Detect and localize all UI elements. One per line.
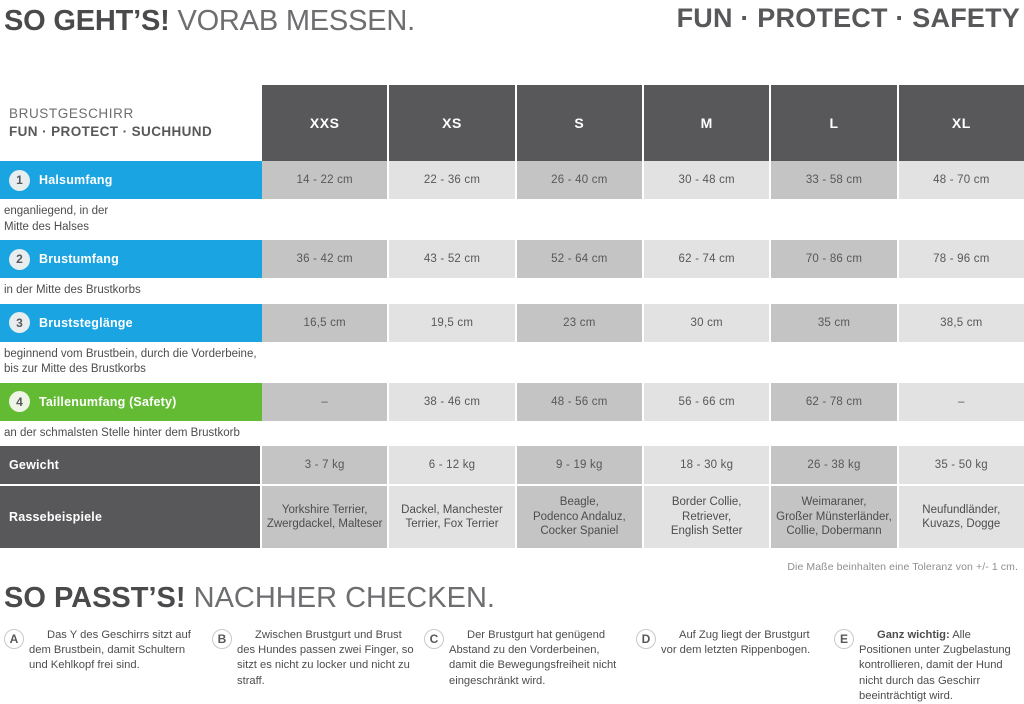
- step-number-badge: 3: [9, 312, 30, 333]
- table-cell: 38 - 46 cm: [389, 383, 516, 421]
- tip-badge-icon: B: [212, 629, 232, 649]
- size-table: BRUSTGESCHIRRFUN · PROTECT · SUCHHUNDXXS…: [0, 85, 1024, 548]
- table-cell: 35 - 50 kg: [899, 446, 1024, 484]
- table-cell: 38,5 cm: [899, 304, 1024, 342]
- table-cell: 56 - 66 cm: [644, 383, 771, 421]
- table-cell: Border Collie, Retriever,English Setter: [644, 486, 771, 548]
- table-cell: 70 - 86 cm: [771, 240, 898, 278]
- table-cell: 43 - 52 cm: [389, 240, 516, 278]
- page-title-light: VORAB MESSEN.: [177, 5, 415, 37]
- table-cell: Weimaraner,Großer Münsterländer,Collie, …: [771, 486, 898, 548]
- note-spacer: [262, 199, 1024, 240]
- table-cell: Dackel, ManchesterTerrier, Fox Terrier: [389, 486, 516, 548]
- tip-text: Das Y des Geschirrs sitzt auf dem Brustb…: [29, 628, 204, 674]
- table-cell: Yorkshire Terrier,Zwergdackel, Malteser: [262, 486, 389, 548]
- tip-text: Auf Zug liegt der Brustgurt vor dem letz…: [661, 628, 826, 658]
- table-cell: 33 - 58 cm: [771, 161, 898, 199]
- footer-title-light: NACHHER CHECKEN.: [194, 582, 495, 614]
- table-row: 2Brustumfang36 - 42 cm43 - 52 cm52 - 64 …: [0, 240, 1024, 278]
- table-cell: 35 cm: [771, 304, 898, 342]
- size-header-xxs: XXS: [262, 85, 389, 161]
- tip-badge-icon: A: [4, 629, 24, 649]
- size-header-xl: XL: [899, 85, 1024, 161]
- table-cell: 9 - 19 kg: [517, 446, 644, 484]
- table-cell: 62 - 78 cm: [771, 383, 898, 421]
- table-cell: 30 - 48 cm: [644, 161, 771, 199]
- corner-line-2: FUN · PROTECT · SUCHHUND: [9, 123, 212, 141]
- table-cell: 30 cm: [644, 304, 771, 342]
- table-cell: 48 - 56 cm: [517, 383, 644, 421]
- tip-badge-icon: E: [834, 629, 854, 649]
- measure-label-3: 3Bruststeglänge: [0, 304, 262, 342]
- table-cell: 6 - 12 kg: [389, 446, 516, 484]
- measure-label-text: Taillenumfang (Safety): [39, 395, 177, 409]
- weight-row: Gewicht3 - 7 kg6 - 12 kg9 - 19 kg18 - 30…: [0, 446, 1024, 484]
- tip-b: BZwischen Brustgurt und Brust des Hundes…: [212, 628, 424, 689]
- measure-note-row: enganliegend, in derMitte des Halses: [0, 199, 1024, 240]
- size-header-s: S: [517, 85, 644, 161]
- breed-row: RassebeispieleYorkshire Terrier,Zwergdac…: [0, 486, 1024, 548]
- weight-label: Gewicht: [0, 446, 262, 484]
- tolerance-note: Die Maße beinhalten eine Toleranz von +/…: [787, 561, 1018, 573]
- table-corner-label: BRUSTGESCHIRRFUN · PROTECT · SUCHHUND: [0, 85, 262, 161]
- table-cell: 3 - 7 kg: [262, 446, 389, 484]
- table-cell: 19,5 cm: [389, 304, 516, 342]
- measure-note: enganliegend, in derMitte des Halses: [0, 199, 262, 240]
- step-number-badge: 2: [9, 249, 30, 270]
- table-cell: 48 - 70 cm: [899, 161, 1024, 199]
- page-header: SO GEHT’S! VORAB MESSEN. FUN · PROTECT ·…: [0, 0, 1024, 58]
- measure-note: in der Mitte des Brustkorbs: [0, 278, 262, 304]
- footer-title-bold: SO PASST’S!: [4, 582, 186, 614]
- note-spacer: [262, 342, 1024, 383]
- measure-label-1: 1Halsumfang: [0, 161, 262, 199]
- measure-note-row: an der schmalsten Stelle hinter dem Brus…: [0, 421, 1024, 447]
- table-cell: 16,5 cm: [262, 304, 389, 342]
- table-cell: –: [899, 383, 1024, 421]
- note-spacer: [262, 278, 1024, 304]
- breed-label: Rassebeispiele: [0, 486, 262, 548]
- tip-badge-icon: C: [424, 629, 444, 649]
- size-header-xs: XS: [389, 85, 516, 161]
- table-cell: 23 cm: [517, 304, 644, 342]
- table-cell: 14 - 22 cm: [262, 161, 389, 199]
- brand-claim: FUN · PROTECT · SAFETY: [677, 0, 1024, 34]
- step-number-badge: 1: [9, 170, 30, 191]
- measure-note-row: beginnend vom Brustbein, durch die Vorde…: [0, 342, 1024, 383]
- tip-d: DAuf Zug liegt der Brustgurt vor dem let…: [636, 628, 834, 658]
- measure-note: beginnend vom Brustbein, durch die Vorde…: [0, 342, 262, 383]
- measure-label-text: Halsumfang: [39, 173, 113, 187]
- table-row: 3Bruststeglänge16,5 cm19,5 cm23 cm30 cm3…: [0, 304, 1024, 342]
- table-cell: 36 - 42 cm: [262, 240, 389, 278]
- size-header-l: L: [771, 85, 898, 161]
- measure-label-text: Bruststeglänge: [39, 316, 133, 330]
- table-cell: 26 - 38 kg: [771, 446, 898, 484]
- measure-label-4: 4Taillenumfang (Safety): [0, 383, 262, 421]
- tip-text: Zwischen Brustgurt und Brust des Hundes …: [237, 628, 416, 689]
- tip-badge-icon: D: [636, 629, 656, 649]
- table-cell: Beagle,Podenco Andaluz,Cocker Spaniel: [517, 486, 644, 548]
- table-cell: 18 - 30 kg: [644, 446, 771, 484]
- page-title: SO GEHT’S! VORAB MESSEN.: [0, 0, 415, 40]
- table-cell: Neufundländer,Kuvazs, Dogge: [899, 486, 1024, 548]
- table-cell: 62 - 74 cm: [644, 240, 771, 278]
- table-cell: –: [262, 383, 389, 421]
- table-cell: 78 - 96 cm: [899, 240, 1024, 278]
- note-spacer: [262, 421, 1024, 447]
- measure-label-2: 2Brustumfang: [0, 240, 262, 278]
- measure-label-text: Brustumfang: [39, 252, 119, 266]
- table-cell: 52 - 64 cm: [517, 240, 644, 278]
- tip-a: ADas Y des Geschirrs sitzt auf dem Brust…: [4, 628, 212, 674]
- measure-note-row: in der Mitte des Brustkorbs: [0, 278, 1024, 304]
- page-title-bold: SO GEHT’S!: [4, 5, 170, 37]
- measure-note: an der schmalsten Stelle hinter dem Brus…: [0, 421, 262, 447]
- corner-line-1: BRUSTGESCHIRR: [9, 105, 134, 123]
- tip-c: CDer Brustgurt hat genügend Abstand zu d…: [424, 628, 636, 689]
- table-header-row: BRUSTGESCHIRRFUN · PROTECT · SUCHHUNDXXS…: [0, 85, 1024, 161]
- table-row: 1Halsumfang14 - 22 cm22 - 36 cm26 - 40 c…: [0, 161, 1024, 199]
- step-number-badge: 4: [9, 391, 30, 412]
- table-cell: 26 - 40 cm: [517, 161, 644, 199]
- footer-title: SO PASST’S! NACHHER CHECKEN.: [4, 579, 495, 617]
- table-cell: 22 - 36 cm: [389, 161, 516, 199]
- table-row: 4Taillenumfang (Safety)–38 - 46 cm48 - 5…: [0, 383, 1024, 421]
- tip-text: Der Brustgurt hat genügend Abstand zu de…: [449, 628, 628, 689]
- size-header-m: M: [644, 85, 771, 161]
